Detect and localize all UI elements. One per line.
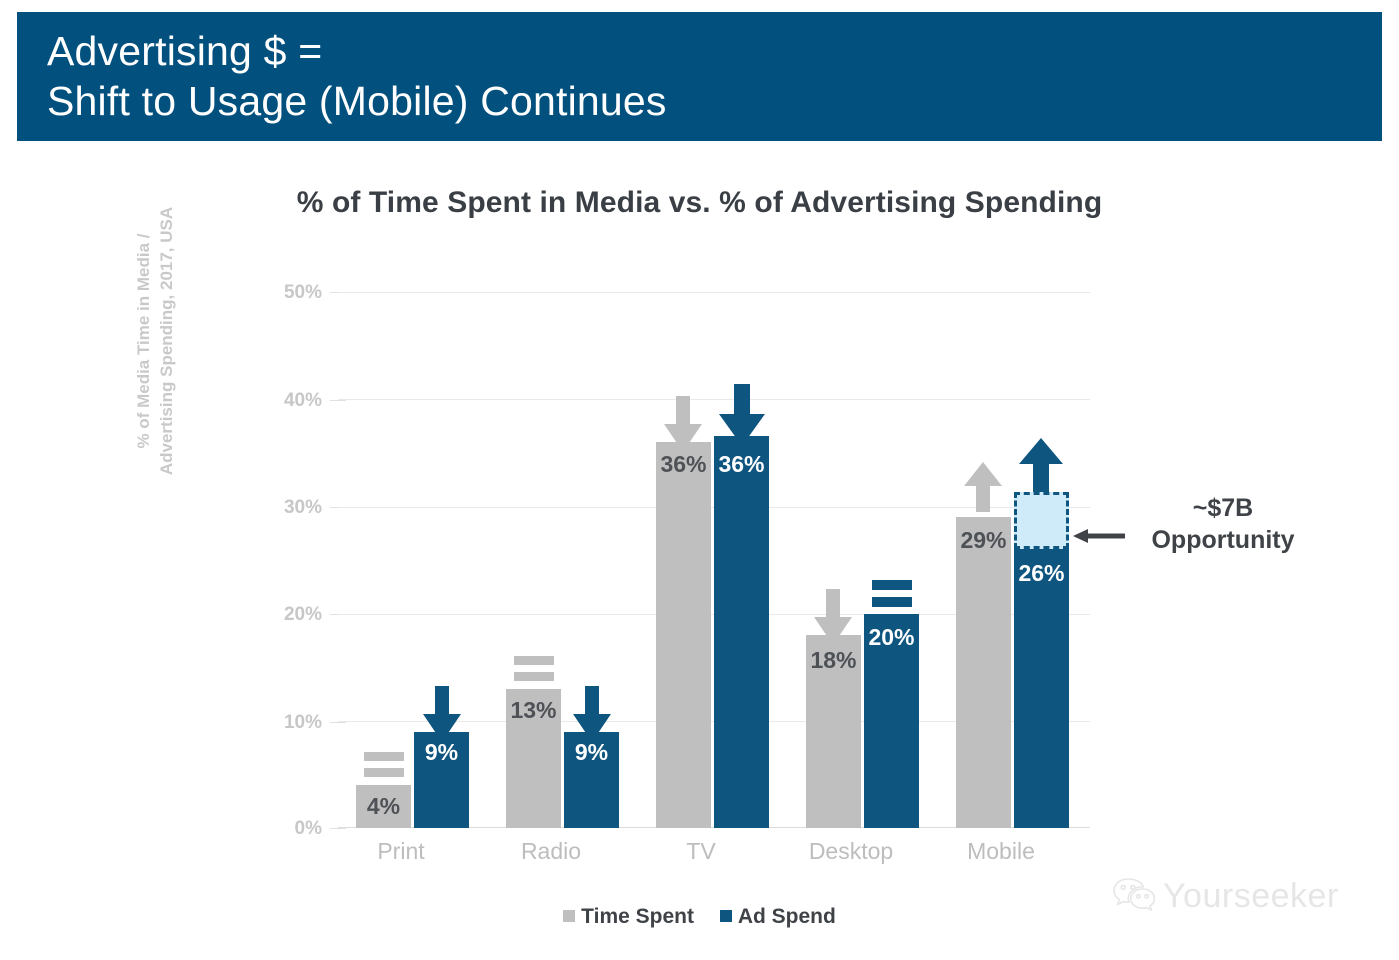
bar-label-radio-time-spent: 13% <box>506 697 561 724</box>
y-tick-label-40: 40% <box>236 390 322 412</box>
watermark: Yourseeker <box>1113 877 1339 920</box>
bar-label-mobile-time-spent: 29% <box>956 527 1011 554</box>
x-tick-label-tv: TV <box>626 838 776 865</box>
opportunity-callout-line2: Opportunity <box>1108 524 1338 556</box>
watermark-text: Yourseeker <box>1163 877 1339 915</box>
bar-mobile-time-spent[interactable] <box>956 517 1011 828</box>
bar-mobile-ad-spend[interactable] <box>1014 549 1069 828</box>
bar-tv-time-spent[interactable] <box>656 442 711 828</box>
equals-icon-radio-time-spent <box>514 654 554 684</box>
legend-swatch-ad-spend <box>720 910 732 922</box>
legend-label-ad-spend: Ad Spend <box>738 905 836 928</box>
opportunity-band[interactable] <box>1014 492 1069 549</box>
y-tick-label-10: 10% <box>236 712 322 734</box>
up-arrow-icon-mobile-ad-spend <box>1019 438 1063 492</box>
bar-label-mobile-ad-spend: 26% <box>1014 560 1069 587</box>
down-arrow-icon-radio-ad-spend <box>573 686 611 742</box>
x-tick-label-print: Print <box>326 838 476 865</box>
bar-label-desktop-time-spent: 18% <box>806 647 861 674</box>
down-arrow-icon-tv-ad-spend <box>719 384 765 446</box>
wechat-icon <box>1113 877 1155 920</box>
y-tick-label-20: 20% <box>236 604 322 626</box>
legend-item-time-spent[interactable]: Time Spent <box>563 905 694 929</box>
x-tick-label-radio: Radio <box>476 838 626 865</box>
bar-label-print-ad-spend: 9% <box>414 739 469 766</box>
opportunity-callout: ~$7B Opportunity <box>1108 492 1338 556</box>
legend-swatch-time-spent <box>563 910 575 922</box>
gridline-40 <box>338 399 1090 400</box>
equals-icon-desktop-ad-spend <box>872 579 912 609</box>
bar-label-print-time-spent: 4% <box>356 793 411 820</box>
x-tick-label-mobile: Mobile <box>926 838 1076 865</box>
up-arrow-icon-mobile-time-spent <box>964 462 1002 512</box>
bar-label-tv-ad-spend: 36% <box>714 451 769 478</box>
legend-label-time-spent: Time Spent <box>581 905 694 928</box>
bar-label-radio-ad-spend: 9% <box>564 739 619 766</box>
down-arrow-icon-print-ad-spend <box>423 686 461 742</box>
legend-item-ad-spend[interactable]: Ad Spend <box>720 905 836 929</box>
down-arrow-icon-desktop-time-spent <box>814 589 852 645</box>
x-tick-label-desktop: Desktop <box>776 838 926 865</box>
down-arrow-icon-tv-time-spent <box>664 396 702 452</box>
y-tick-label-0: 0% <box>236 818 322 840</box>
bar-tv-ad-spend[interactable] <box>714 436 769 828</box>
plot-area: 4% 9% 13% 9% 36% 36% 18% 20% 29% 26% <box>338 292 1090 828</box>
y-tick-label-30: 30% <box>236 497 322 519</box>
bar-label-desktop-ad-spend: 20% <box>864 624 919 651</box>
bar-label-tv-time-spent: 36% <box>656 451 711 478</box>
opportunity-callout-line1: ~$7B <box>1108 492 1338 524</box>
equals-icon-print-time-spent <box>364 750 404 780</box>
y-tick-label-50: 50% <box>236 282 322 304</box>
gridline-50 <box>338 292 1090 293</box>
y-tick-dash-0 <box>330 828 346 829</box>
bar-chart: % of Media Time in Media / Advertising S… <box>0 0 1399 960</box>
